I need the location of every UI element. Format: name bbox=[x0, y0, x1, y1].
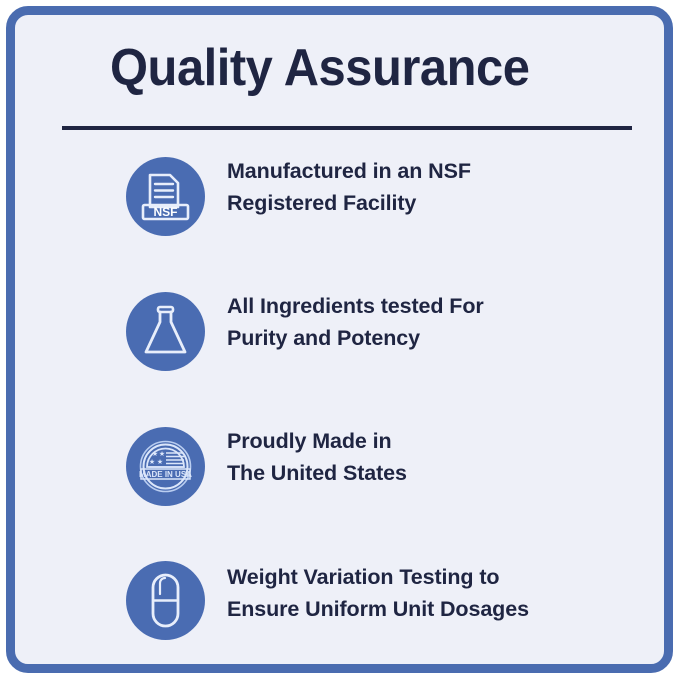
list-item: NSF Manufactured in an NSF Registered Fa… bbox=[15, 153, 664, 239]
list-item-text: Weight Variation Testing to Ensure Unifo… bbox=[227, 561, 657, 625]
list-item-line1: Weight Variation Testing to bbox=[227, 565, 499, 589]
list-item: ★ ★ ★ ★ MADE IN USA Proudly Made in The … bbox=[15, 423, 664, 509]
list-item-line2: Ensure Uniform Unit Dosages bbox=[227, 593, 657, 625]
made-in-usa-label: MADE IN USA bbox=[139, 470, 192, 479]
quality-assurance-card: Quality Assurance NSF Manufactured in an… bbox=[6, 6, 673, 673]
list-item-text: Manufactured in an NSF Registered Facili… bbox=[227, 155, 657, 219]
capsule-pill-icon bbox=[126, 561, 205, 640]
list-item: Weight Variation Testing to Ensure Unifo… bbox=[15, 557, 664, 643]
list-item-line2: Purity and Potency bbox=[227, 322, 657, 354]
erlenmeyer-flask-icon bbox=[126, 292, 205, 371]
svg-text:★: ★ bbox=[149, 458, 155, 466]
svg-text:★: ★ bbox=[152, 450, 158, 458]
nsf-document-icon: NSF bbox=[126, 157, 205, 236]
list-item: All Ingredients tested For Purity and Po… bbox=[15, 288, 664, 374]
made-in-usa-seal-icon: ★ ★ ★ ★ MADE IN USA bbox=[126, 427, 205, 506]
svg-text:★: ★ bbox=[157, 458, 163, 466]
svg-text:★: ★ bbox=[159, 450, 165, 458]
nsf-label: NSF bbox=[154, 205, 178, 219]
list-item-text: Proudly Made in The United States bbox=[227, 425, 657, 489]
feature-list: NSF Manufactured in an NSF Registered Fa… bbox=[15, 15, 664, 664]
list-item-line1: Manufactured in an NSF bbox=[227, 159, 471, 183]
list-item-line2: Registered Facility bbox=[227, 187, 657, 219]
list-item-line1: Proudly Made in bbox=[227, 429, 392, 453]
list-item-line2: The United States bbox=[227, 457, 657, 489]
list-item-line1: All Ingredients tested For bbox=[227, 294, 484, 318]
list-item-text: All Ingredients tested For Purity and Po… bbox=[227, 290, 657, 354]
